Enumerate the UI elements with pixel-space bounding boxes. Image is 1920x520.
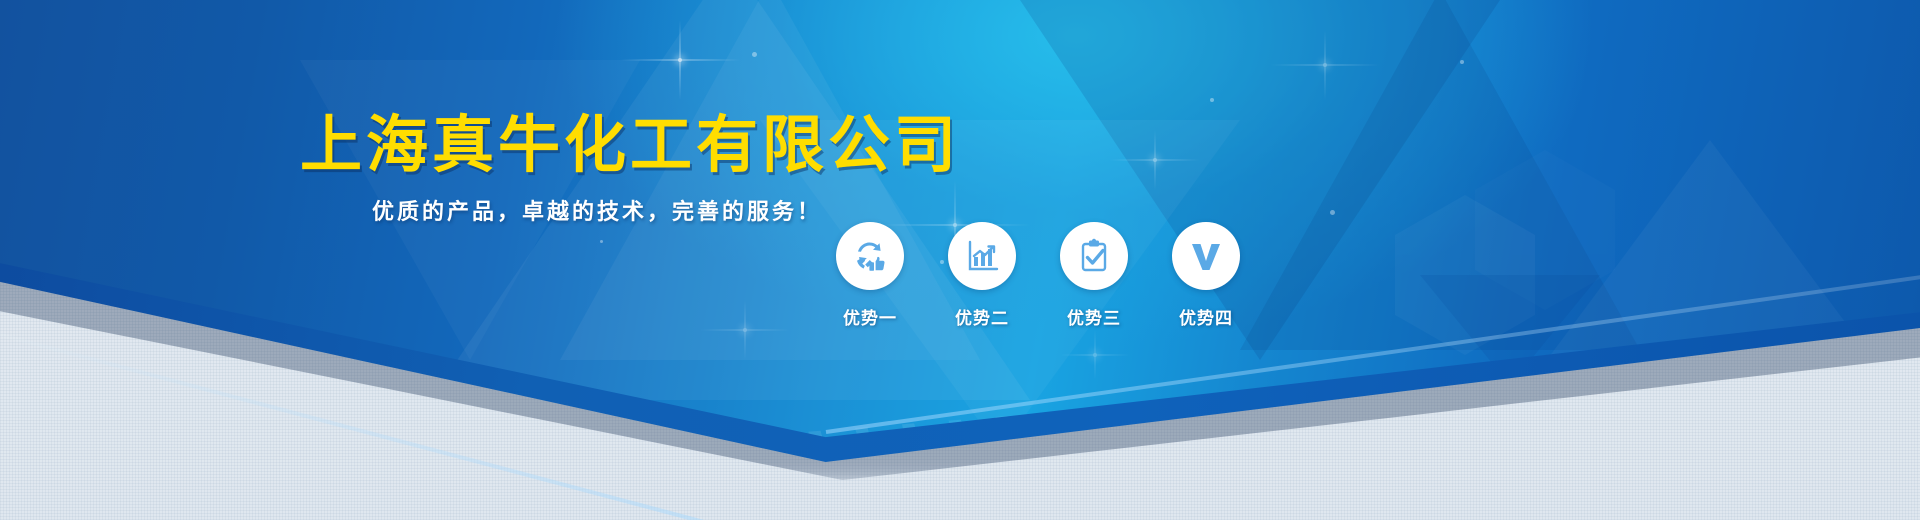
advantage-icon-circle[interactable] xyxy=(1060,222,1128,290)
company-slogan: 优质的产品，卓越的技术，完善的服务！ xyxy=(372,194,822,226)
advantage-label: 优势二 xyxy=(955,304,1009,329)
letter-v-icon xyxy=(1187,237,1225,275)
advantage-label: 优势一 xyxy=(843,304,897,329)
bar-chart-growth-icon xyxy=(963,237,1001,275)
company-hero-banner: 上海真牛化工有限公司 优质的产品，卓越的技术，完善的服务！ 优势一 xyxy=(0,0,1920,520)
clipboard-check-icon xyxy=(1075,237,1113,275)
advantages-row: 优势一 优势二 xyxy=(836,222,1240,329)
advantage-item-4[interactable]: 优势四 xyxy=(1172,222,1240,329)
advantage-item-3[interactable]: 优势三 xyxy=(1060,222,1128,329)
advantage-icon-circle[interactable] xyxy=(948,222,1016,290)
refresh-thumbs-up-icon xyxy=(850,236,890,276)
advantage-icon-circle[interactable] xyxy=(836,222,904,290)
advantage-label: 优势三 xyxy=(1067,304,1121,329)
advantage-item-2[interactable]: 优势二 xyxy=(948,222,1016,329)
advantage-item-1[interactable]: 优势一 xyxy=(836,222,904,329)
advantage-label: 优势四 xyxy=(1179,304,1233,329)
company-title: 上海真牛化工有限公司 xyxy=(300,94,960,184)
advantage-icon-circle[interactable] xyxy=(1172,222,1240,290)
